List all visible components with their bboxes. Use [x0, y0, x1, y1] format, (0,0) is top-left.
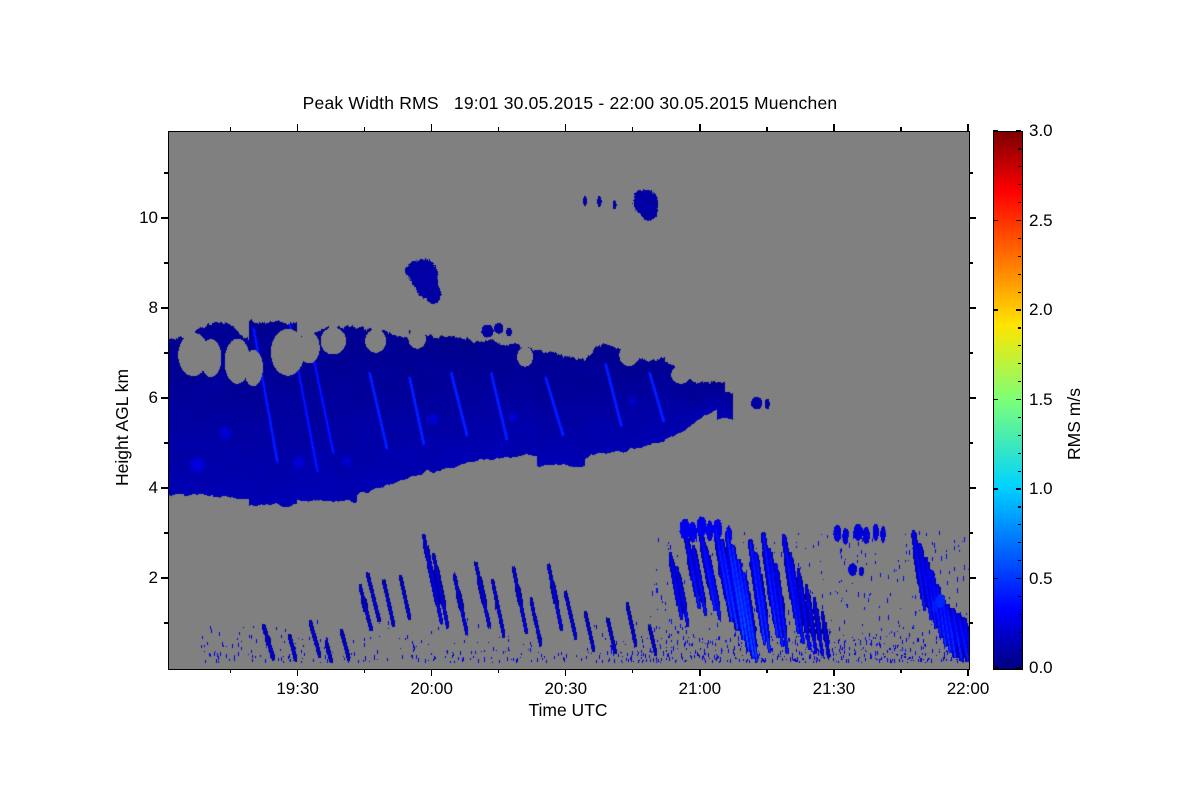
heatmap-image: [169, 132, 969, 669]
colorbar-tick-minor: [1018, 327, 1021, 328]
y-tick-minor-right: [969, 352, 973, 353]
y-tick-minor-right: [969, 262, 973, 263]
colorbar-tick-minor: [1018, 471, 1021, 472]
colorbar-tick-minor: [1018, 345, 1021, 346]
y-axis-title: Height AGL km: [112, 369, 133, 486]
x-tick-major-top: [431, 124, 432, 131]
x-tick-major-top: [565, 124, 566, 131]
y-tick-minor: [164, 442, 168, 443]
colorbar-tick-minor: [1018, 238, 1021, 239]
y-tick-label: 2: [108, 568, 158, 588]
x-tick-minor: [498, 669, 499, 673]
plot-area[interactable]: [168, 131, 970, 670]
colorbar-tick-minor: [1018, 632, 1021, 633]
colorbar-tick-minor: [1018, 560, 1021, 561]
x-tick-label: 22:00: [947, 679, 990, 699]
y-tick-minor-right: [969, 172, 973, 173]
colorbar-tick: [1016, 488, 1021, 489]
colorbar-tick-left: [993, 130, 998, 131]
colorbar-tick-minor: [1018, 596, 1021, 597]
colorbar-tick-minor: [1018, 256, 1021, 257]
x-tick-major: [967, 669, 968, 676]
x-tick-major: [431, 669, 432, 676]
colorbar-tick-label: 1.0: [1029, 479, 1053, 499]
y-tick-label: 10: [108, 208, 158, 228]
x-tick-minor: [632, 669, 633, 673]
colorbar-tick: [1016, 220, 1021, 221]
y-tick-minor-right: [969, 622, 973, 623]
colorbar-tick: [1016, 667, 1021, 668]
colorbar-tick-minor: [1018, 292, 1021, 293]
colorbar-tick-minor: [1018, 381, 1021, 382]
colorbar-tick-minor: [1018, 274, 1021, 275]
y-tick-minor: [164, 262, 168, 263]
colorbar-tick-label: 2.0: [1029, 300, 1053, 320]
colorbar-tick-minor: [1018, 166, 1021, 167]
x-tick-label: 21:30: [813, 679, 856, 699]
colorbar-title: RMS m/s: [1064, 388, 1085, 460]
x-tick-major-top: [967, 124, 968, 131]
y-tick-minor-right: [969, 532, 973, 533]
colorbar-tick-minor: [1018, 614, 1021, 615]
x-tick-major-top: [833, 124, 834, 131]
y-tick-major-right: [969, 397, 976, 398]
colorbar-tick: [1016, 130, 1021, 131]
colorbar-tick-label: 0.5: [1029, 569, 1053, 589]
x-tick-minor-top: [364, 127, 365, 131]
colorbar-tick-minor: [1018, 184, 1021, 185]
x-tick-major: [297, 669, 298, 676]
x-tick-minor-top: [498, 127, 499, 131]
colorbar-tick-left: [993, 488, 998, 489]
figure-canvas: Peak Width RMS 19:01 30.05.2015 - 22:00 …: [0, 0, 1200, 800]
x-tick-major-top: [699, 124, 700, 131]
x-tick-minor: [900, 669, 901, 673]
colorbar-tick-left: [993, 578, 998, 579]
y-tick-minor: [164, 532, 168, 533]
x-tick-minor: [766, 669, 767, 673]
y-tick-major-right: [969, 577, 976, 578]
colorbar-tick-minor: [1018, 524, 1021, 525]
y-tick-minor-right: [969, 442, 973, 443]
colorbar-tick-left: [993, 667, 998, 668]
x-tick-minor-top: [766, 127, 767, 131]
colorbar-tick-left: [993, 399, 998, 400]
x-axis-title: Time UTC: [168, 700, 968, 721]
colorbar-tick-minor: [1018, 435, 1021, 436]
colorbar-tick-minor: [1018, 417, 1021, 418]
x-tick-minor-top: [230, 127, 231, 131]
colorbar-tick-minor: [1018, 202, 1021, 203]
y-tick-major-right: [969, 307, 976, 308]
y-tick-major: [161, 307, 168, 308]
y-tick-major: [161, 487, 168, 488]
y-tick-label: 8: [108, 298, 158, 318]
colorbar-tick: [1016, 578, 1021, 579]
x-tick-label: 20:00: [410, 679, 453, 699]
x-tick-minor: [364, 669, 365, 673]
x-tick-label: 21:00: [679, 679, 722, 699]
colorbar-tick-label: 2.5: [1029, 211, 1053, 231]
x-tick-major: [699, 669, 700, 676]
y-tick-major: [161, 397, 168, 398]
colorbar-tick: [1016, 399, 1021, 400]
colorbar-tick-label: 1.5: [1029, 390, 1053, 410]
colorbar-tick-left: [993, 309, 998, 310]
y-tick-major: [161, 217, 168, 218]
colorbar-tick: [1016, 309, 1021, 310]
y-tick-major-right: [969, 217, 976, 218]
y-tick-major: [161, 577, 168, 578]
x-tick-major-top: [297, 124, 298, 131]
x-tick-major: [565, 669, 566, 676]
colorbar-tick-label: 0.0: [1029, 658, 1053, 678]
colorbar-tick-minor: [1018, 506, 1021, 507]
colorbar-tick-minor: [1018, 650, 1021, 651]
x-tick-label: 20:30: [544, 679, 587, 699]
colorbar[interactable]: [993, 131, 1023, 670]
x-tick-minor-top: [900, 127, 901, 131]
colorbar-tick-minor: [1018, 453, 1021, 454]
chart-title: Peak Width RMS 19:01 30.05.2015 - 22:00 …: [0, 93, 1140, 114]
y-tick-minor: [164, 622, 168, 623]
x-tick-label: 19:30: [276, 679, 319, 699]
y-tick-minor: [164, 172, 168, 173]
colorbar-tick-left: [993, 220, 998, 221]
x-tick-minor-top: [632, 127, 633, 131]
x-tick-minor: [230, 669, 231, 673]
colorbar-gradient: [994, 132, 1022, 669]
y-tick-minor: [164, 352, 168, 353]
y-tick-major-right: [969, 487, 976, 488]
colorbar-tick-minor: [1018, 542, 1021, 543]
colorbar-tick-minor: [1018, 148, 1021, 149]
x-tick-major: [833, 669, 834, 676]
colorbar-tick-label: 3.0: [1029, 121, 1053, 141]
colorbar-tick-minor: [1018, 363, 1021, 364]
